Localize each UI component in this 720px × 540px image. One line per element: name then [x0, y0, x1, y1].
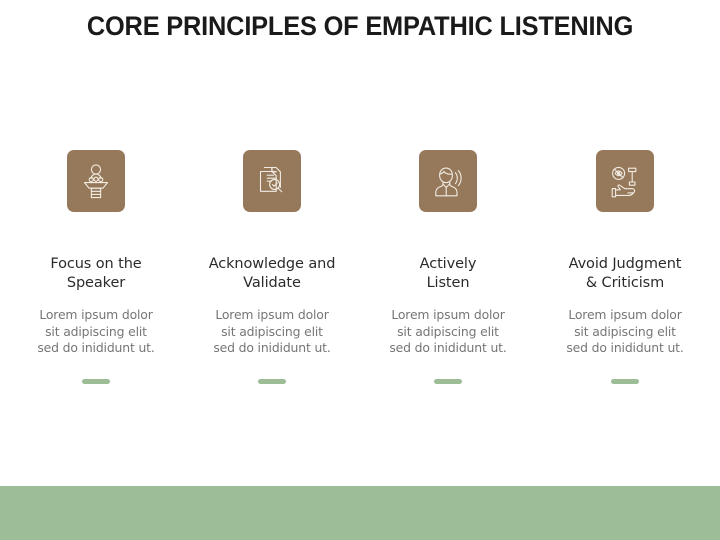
card-heading: Avoid Judgment & Criticism — [569, 255, 682, 293]
principle-card-avoid-judgment-and-criticism: Avoid Judgment & Criticism Lorem ipsum d… — [537, 150, 713, 384]
hand-gavel-no-judgment-icon — [607, 162, 643, 200]
card-body: Lorem ipsum dolor sit adipiscing elit se… — [37, 307, 154, 357]
podium-speaker-icon — [78, 162, 114, 200]
card-divider — [434, 379, 462, 384]
principle-card-actively-listen: Actively Listen Lorem ipsum dolor sit ad… — [360, 150, 536, 384]
principle-card-acknowledge-and-validate: Acknowledge and Validate Lorem ipsum dol… — [184, 150, 360, 384]
card-divider — [82, 379, 110, 384]
card-divider — [258, 379, 286, 384]
card-body: Lorem ipsum dolor sit adipiscing elit se… — [213, 307, 330, 357]
icon-tile — [419, 150, 477, 212]
card-body: Lorem ipsum dolor sit adipiscing elit se… — [389, 307, 506, 357]
principle-card-focus-on-the-speaker: Focus on the Speaker Lorem ipsum dolor s… — [8, 150, 184, 384]
principles-row: Focus on the Speaker Lorem ipsum dolor s… — [0, 150, 720, 384]
person-listening-soundwaves-icon — [430, 162, 466, 200]
card-heading: Actively Listen — [420, 255, 477, 293]
icon-tile — [596, 150, 654, 212]
document-verify-magnifier-icon — [254, 162, 290, 200]
card-body: Lorem ipsum dolor sit adipiscing elit se… — [566, 307, 683, 357]
card-heading: Focus on the Speaker — [50, 255, 141, 293]
icon-tile — [243, 150, 301, 212]
icon-tile — [67, 150, 125, 212]
footer-band — [0, 486, 720, 540]
card-divider — [611, 379, 639, 384]
card-heading: Acknowledge and Validate — [209, 255, 336, 293]
page-title: CORE PRINCIPLES OF EMPATHIC LISTENING — [22, 11, 699, 42]
